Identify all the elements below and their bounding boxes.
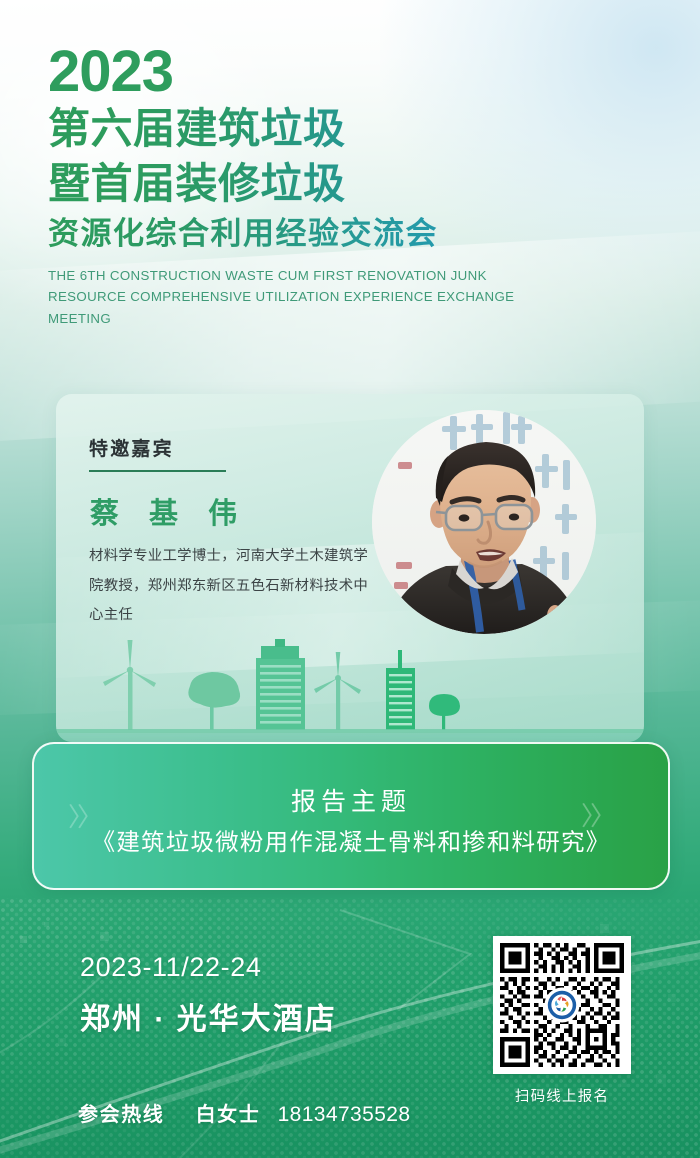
guest-bio: 材料学专业工学博士，河南大学土木建筑学院教授，郑州郑东新区五色石新材料技术中心主… bbox=[89, 542, 379, 631]
event-date: 2023-11/22-24 bbox=[80, 952, 261, 983]
guest-label-underline bbox=[89, 470, 226, 472]
qr-code-card[interactable] bbox=[493, 936, 631, 1074]
title-line-2: 暨首届装修垃圾 bbox=[48, 157, 648, 212]
hotline-phone-number: 18134735528 bbox=[278, 1103, 411, 1126]
conference-emblem-icon bbox=[546, 989, 578, 1021]
guest-card: 特邀嘉宾 蔡 基 伟 材料学专业工学博士，河南大学土木建筑学院教授，郑州郑东新区… bbox=[56, 394, 644, 742]
guest-portrait-photo bbox=[372, 410, 596, 634]
qr-caption: 扫码线上报名 bbox=[493, 1085, 631, 1106]
event-year: 2023 bbox=[48, 42, 648, 102]
title-line-3: 资源化综合利用经验交流会 bbox=[48, 212, 648, 256]
tree-icon bbox=[188, 672, 240, 730]
guest-name: 蔡 基 伟 bbox=[90, 490, 248, 532]
title-line-1: 第六届建筑垃圾 bbox=[48, 102, 648, 157]
qr-registration-block[interactable]: 扫码线上报名 bbox=[493, 936, 631, 1106]
subtitle-english: THE 6TH CONSTRUCTION WASTE CUM FIRST REN… bbox=[48, 265, 558, 330]
title-block: 2023 第六届建筑垃圾 暨首届装修垃圾 资源化综合利用经验交流会 THE 6T… bbox=[48, 42, 648, 330]
hotline-contact-name: 白女士 bbox=[196, 1104, 261, 1126]
tree-icon bbox=[429, 694, 460, 730]
report-theme-heading: 报告主题 bbox=[34, 782, 668, 818]
report-theme-box: 〉〉 〉〉 报告主题 《建筑垃圾微粉用作混凝土骨料和掺和料研究》 bbox=[32, 742, 670, 890]
guest-label: 特邀嘉宾 bbox=[89, 434, 174, 461]
poster-root: 2023 第六届建筑垃圾 暨首届装修垃圾 资源化综合利用经验交流会 THE 6T… bbox=[0, 0, 700, 1158]
report-theme-title: 《建筑垃圾微粉用作混凝土骨料和掺和料研究》 bbox=[34, 823, 668, 857]
hotline-label: 参会热线 bbox=[78, 1104, 164, 1126]
contact-hotline: 参会热线 白女士 18134735528 bbox=[78, 1098, 410, 1127]
event-place: 郑州 · 光华大酒店 bbox=[80, 994, 337, 1038]
